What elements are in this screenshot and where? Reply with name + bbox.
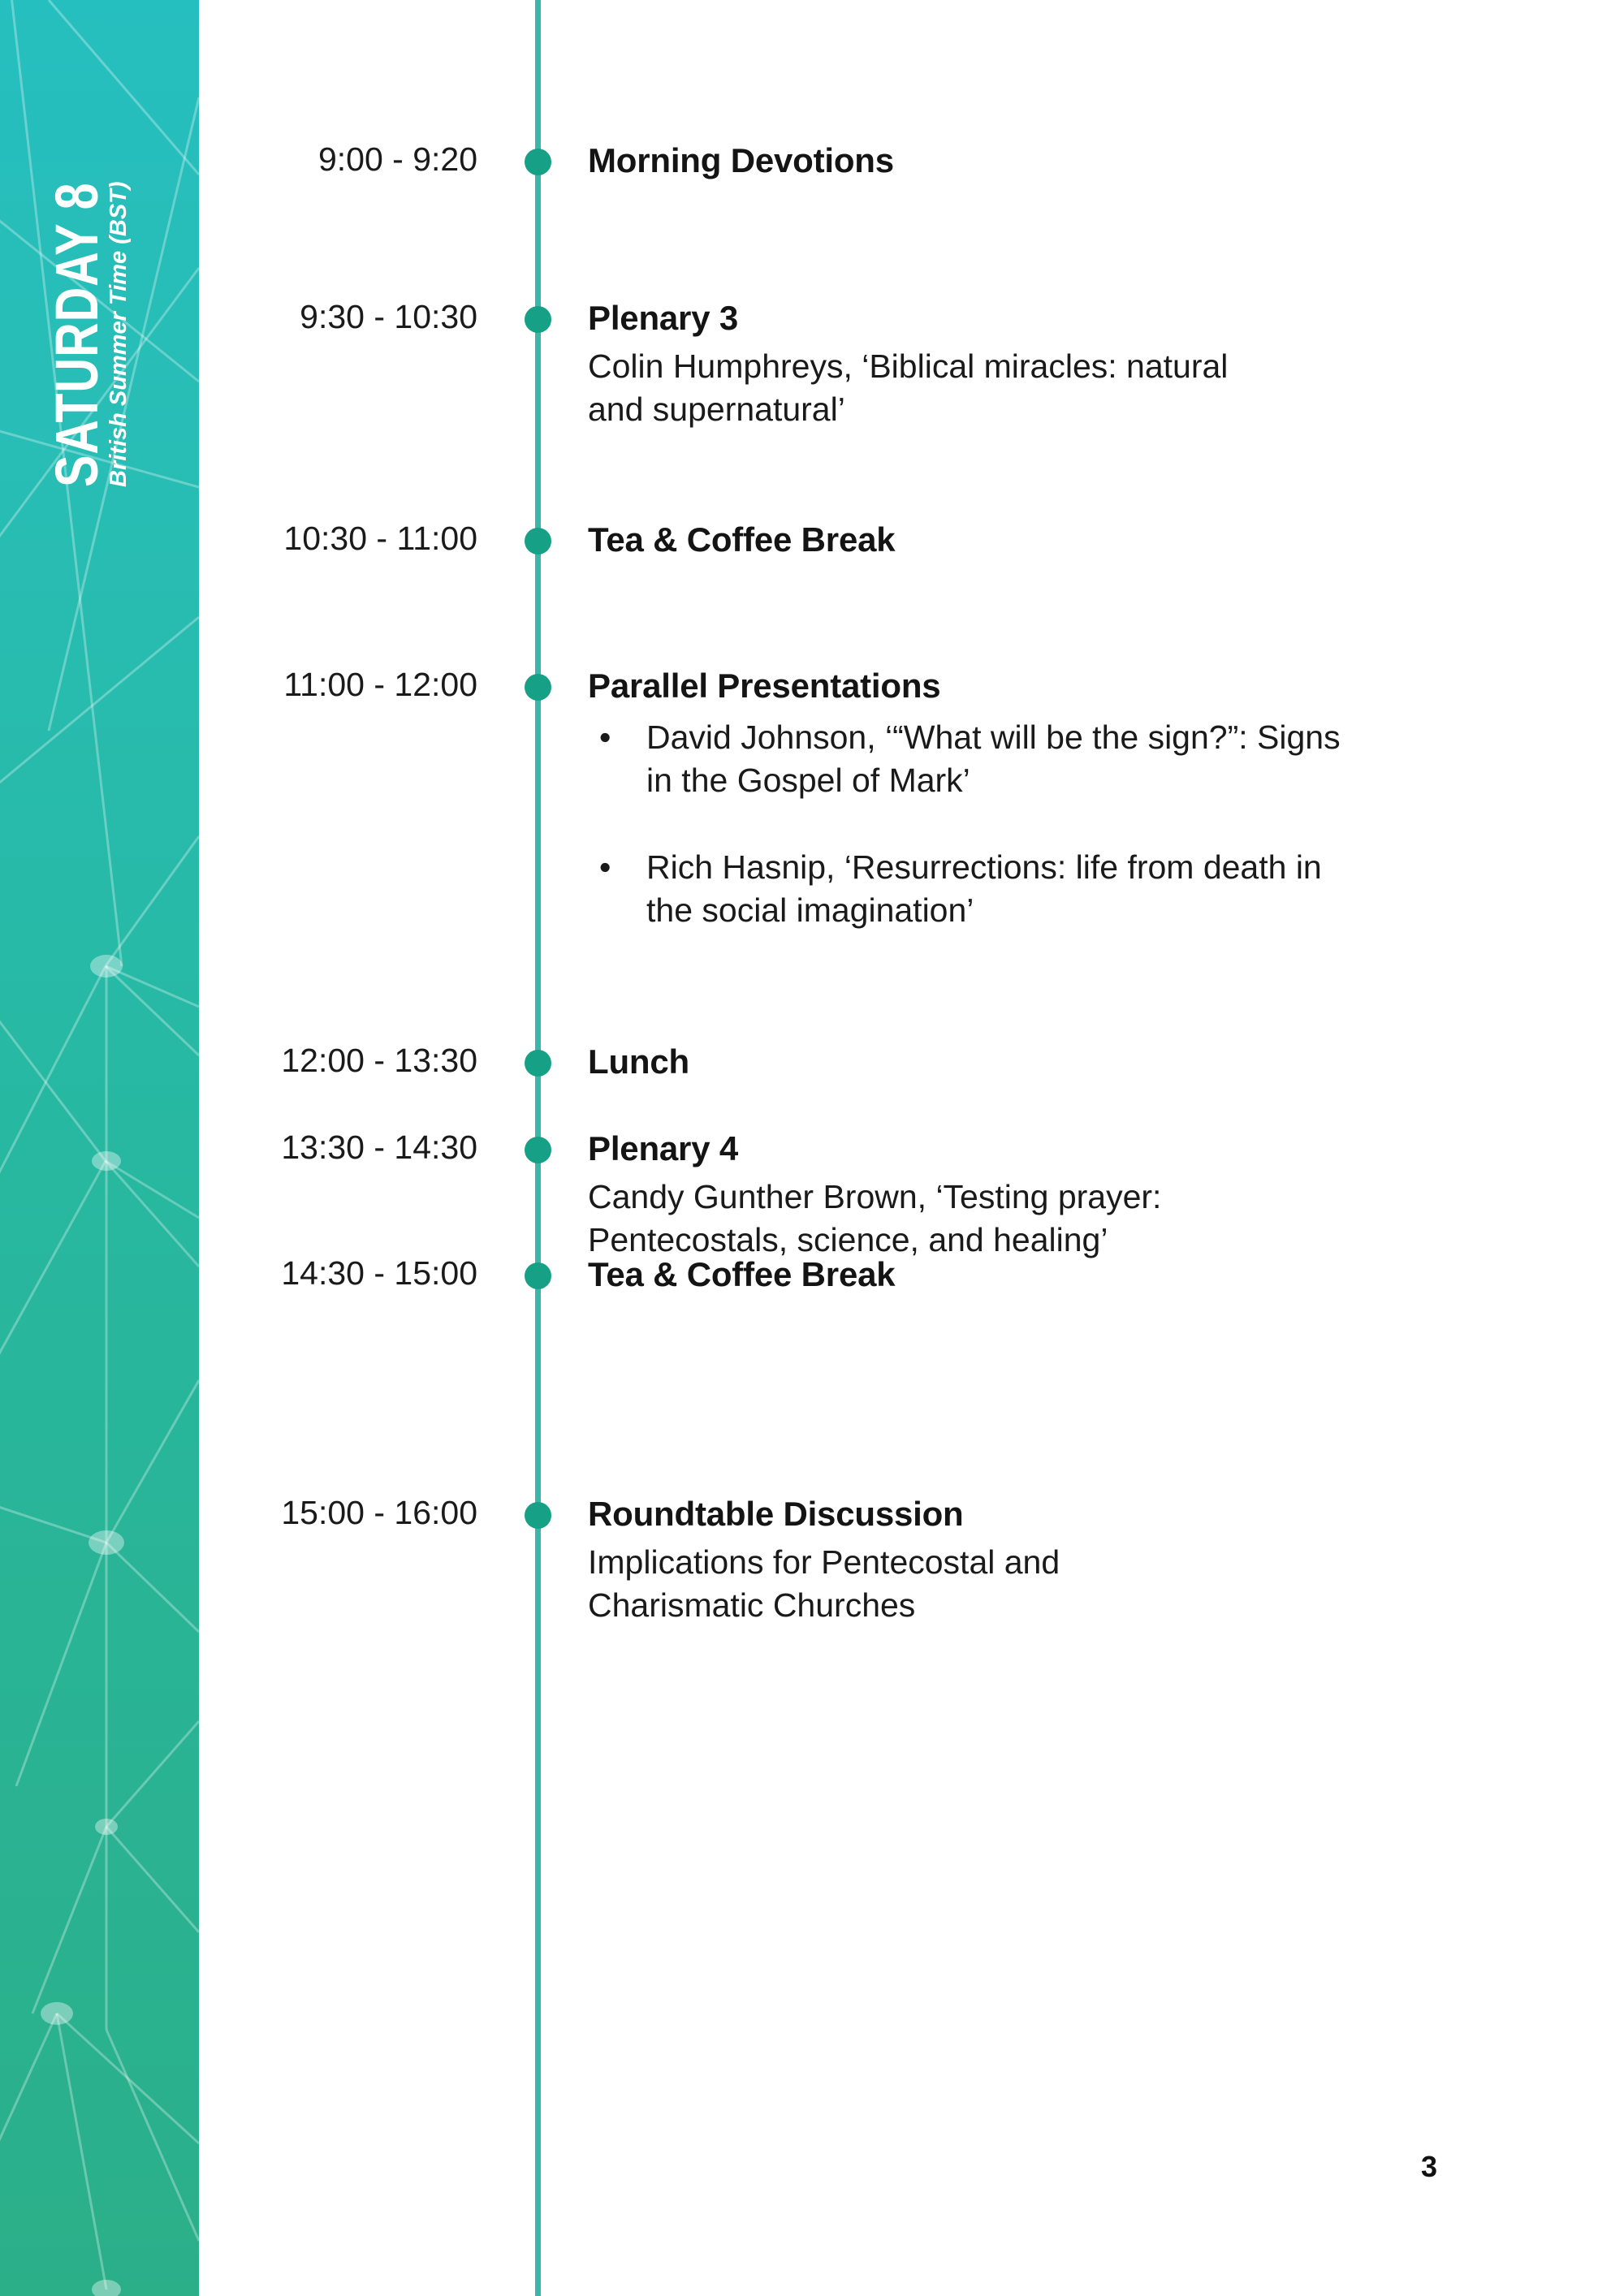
entry-title: Tea & Coffee Break <box>588 520 1546 560</box>
entry-bullet-list: •David Johnson, ‘“What will be the sign?… <box>588 716 1546 933</box>
entry-description: Candy Gunther Brown, ‘Testing prayer: Pe… <box>588 1176 1237 1262</box>
timeline-dot-icon <box>525 149 551 175</box>
timezone-label: British Summer Time (BST) <box>106 181 132 487</box>
entry-time: 11:00 - 12:00 <box>130 666 477 704</box>
bullet-point-icon: • <box>599 716 611 759</box>
entry-title: Parallel Presentations <box>588 666 1546 706</box>
entry-time: 9:00 - 9:20 <box>130 140 477 179</box>
entry-body: Roundtable DiscussionImplications for Pe… <box>588 1494 1546 1627</box>
bullet-text: Rich Hasnip, ‘Resurrections: life from d… <box>646 848 1322 929</box>
bullet-text: David Johnson, ‘“What will be the sign?”… <box>646 719 1341 799</box>
timeline-dot-icon <box>525 1502 551 1529</box>
bullet-point-icon: • <box>599 846 611 889</box>
entry-title: Roundtable Discussion <box>588 1494 1546 1534</box>
entry-title: Plenary 3 <box>588 298 1546 339</box>
timeline-dot-icon <box>525 674 551 701</box>
timeline-dot-icon <box>525 1137 551 1163</box>
entry-body: Morning Devotions <box>588 140 1546 181</box>
entry-title: Lunch <box>588 1042 1546 1082</box>
timeline-dot-icon <box>525 1262 551 1289</box>
entry-title: Morning Devotions <box>588 140 1546 181</box>
entry-time: 14:30 - 15:00 <box>130 1254 477 1293</box>
entry-time: 10:30 - 11:00 <box>130 520 477 558</box>
entry-time: 12:00 - 13:30 <box>130 1042 477 1080</box>
list-item: •David Johnson, ‘“What will be the sign?… <box>588 716 1361 803</box>
day-title: SATURDAY 8 <box>42 183 111 487</box>
entry-body: Parallel Presentations•David Johnson, ‘“… <box>588 666 1546 933</box>
sidebar-label-group: SATURDAY 8 British Summer Time (BST) <box>0 0 199 568</box>
entry-time: 13:30 - 14:30 <box>130 1129 477 1167</box>
entry-time: 15:00 - 16:00 <box>130 1494 477 1532</box>
entry-description: Implications for Pentecostal and Charism… <box>588 1541 1237 1628</box>
entry-body: Plenary 3Colin Humphreys, ‘Biblical mira… <box>588 298 1546 431</box>
timeline-dot-icon <box>525 1050 551 1077</box>
timeline-dot-icon <box>525 306 551 333</box>
entry-time: 9:30 - 10:30 <box>130 298 477 336</box>
entry-description: Colin Humphreys, ‘Biblical miracles: nat… <box>588 345 1237 432</box>
list-item: •Rich Hasnip, ‘Resurrections: life from … <box>588 846 1361 933</box>
timeline-dot-icon <box>525 528 551 555</box>
entry-body: Tea & Coffee Break <box>588 520 1546 560</box>
entry-title: Tea & Coffee Break <box>588 1254 1546 1295</box>
entry-body: Lunch <box>588 1042 1546 1082</box>
entry-title: Plenary 4 <box>588 1129 1546 1169</box>
page-number: 3 <box>1380 2150 1478 2184</box>
entry-body: Tea & Coffee Break <box>588 1254 1546 1295</box>
entry-body: Plenary 4Candy Gunther Brown, ‘Testing p… <box>588 1129 1546 1262</box>
